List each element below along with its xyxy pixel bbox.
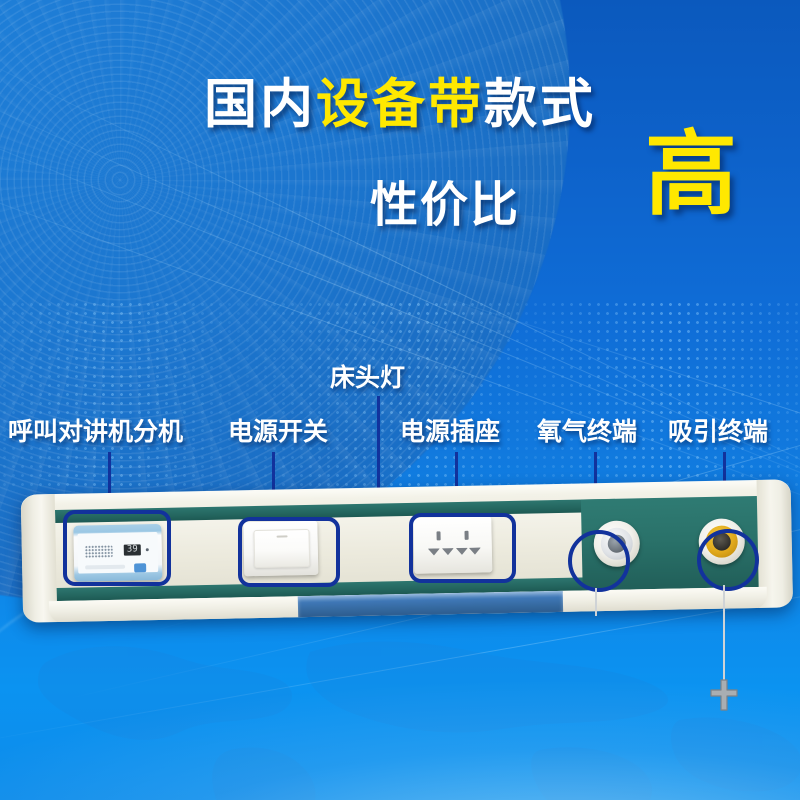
callout-label-socket: 电源插座 [400, 412, 500, 448]
headline-seg-2: 设备带 [316, 74, 484, 135]
headline-seg-3: 款式 [484, 74, 596, 135]
callout-label-lamp: 床头灯 [330, 358, 405, 394]
headline-block: 国内设备带款式 性价比 高 [0, 78, 800, 241]
suction-pull-cord [723, 585, 725, 685]
callout-circle-suction [697, 529, 759, 591]
callout-label-suction: 吸引终端 [668, 412, 768, 448]
headline-emphasis: 高 [645, 129, 737, 221]
callout-box-socket [409, 513, 516, 583]
callout-box-switch [238, 517, 340, 587]
bedside-lamp[interactable] [298, 591, 563, 618]
callout-label-intercom: 呼叫对讲机分机 [8, 412, 183, 448]
headline-line-2: 性价比 高 [0, 151, 800, 241]
pull-cord-handle-icon[interactable] [708, 678, 740, 712]
callout-box-intercom [63, 510, 171, 586]
callout-circle-oxygen [568, 530, 630, 592]
callout-label-switch: 电源开关 [228, 412, 328, 448]
oxygen-cord [595, 588, 597, 616]
callout-label-oxygen: 氧气终端 [537, 412, 637, 448]
headline-subtext: 性价比 [370, 165, 520, 235]
poster-canvas: 国内设备带款式 性价比 高 呼叫对讲机分机 电源开关 床头灯 电源插座 氧气终端… [0, 0, 800, 800]
headline-seg-1: 国内 [204, 74, 316, 135]
halftone-dots [0, 300, 800, 490]
